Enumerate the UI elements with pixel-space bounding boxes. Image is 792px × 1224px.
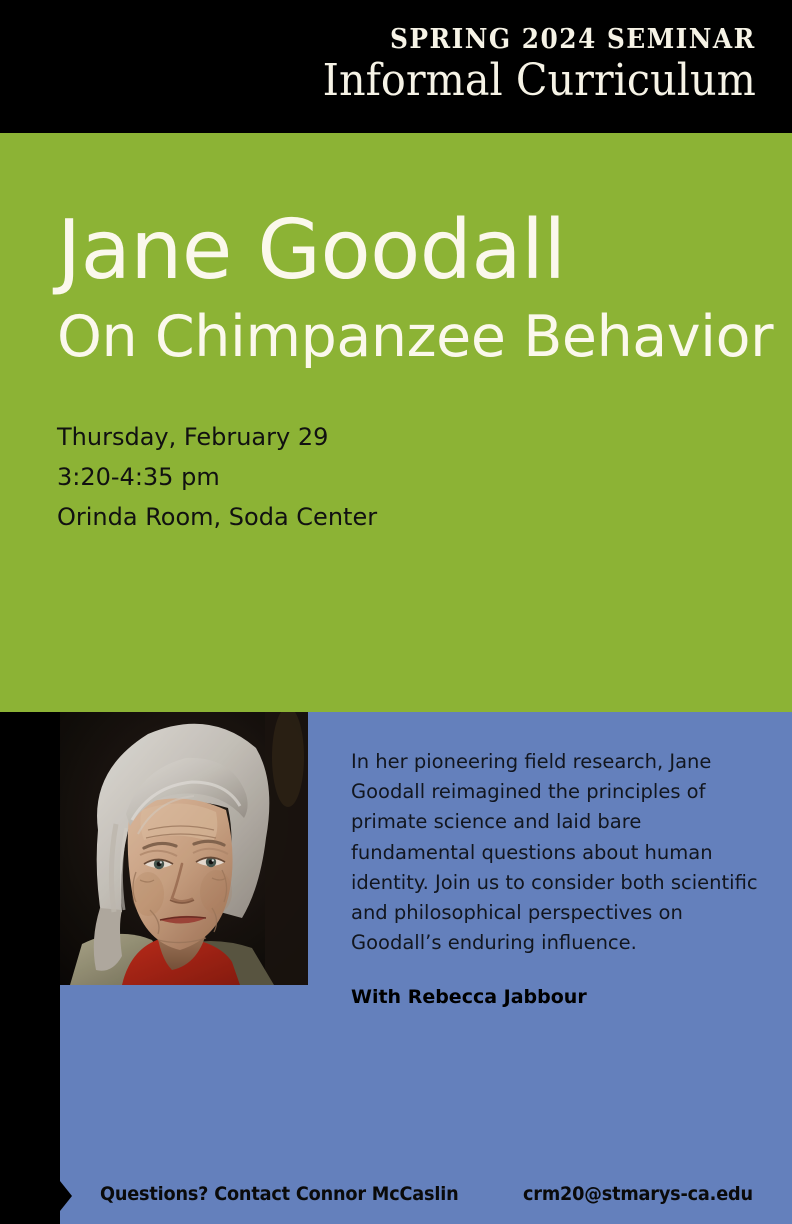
speaker-portrait-photo — [60, 712, 308, 985]
description-text: In her pioneering field research, Jane G… — [351, 747, 769, 959]
presenter-credit: With Rebecca Jabbour — [351, 986, 769, 1008]
seminar-kicker: SPRING 2024 SEMINAR — [332, 26, 756, 53]
event-date: Thursday, February 29 — [57, 418, 377, 458]
green-panel: Jane Goodall On Chimpanzee Behavior Thur… — [0, 133, 792, 712]
event-location: Orinda Room, Soda Center — [57, 498, 377, 538]
description-block: In her pioneering field research, Jane G… — [351, 747, 769, 1008]
footer-contact-text: Questions? Contact Connor McCaslin — [100, 1183, 458, 1205]
portrait-illustration — [60, 712, 308, 985]
event-time: 3:20-4:35 pm — [57, 458, 377, 498]
footer-contact-line: Questions? Contact Connor McCaslin crm20… — [100, 1183, 771, 1205]
header-text-group: SPRING 2024 SEMINAR Informal Curriculum — [295, 26, 756, 104]
footer-email-link[interactable]: crm20@stmarys-ca.edu — [523, 1183, 753, 1205]
speaker-name: Jane Goodall — [57, 211, 566, 291]
event-details: Thursday, February 29 3:20-4:35 pm Orind… — [57, 418, 377, 537]
seminar-poster: SPRING 2024 SEMINAR Informal Curriculum … — [0, 0, 792, 1224]
talk-title: On Chimpanzee Behavior — [57, 309, 773, 366]
header-band: SPRING 2024 SEMINAR Informal Curriculum — [0, 0, 792, 133]
rail-arrow-icon — [60, 1181, 72, 1211]
left-black-rail — [0, 712, 60, 1224]
series-title: Informal Curriculum — [323, 59, 756, 104]
